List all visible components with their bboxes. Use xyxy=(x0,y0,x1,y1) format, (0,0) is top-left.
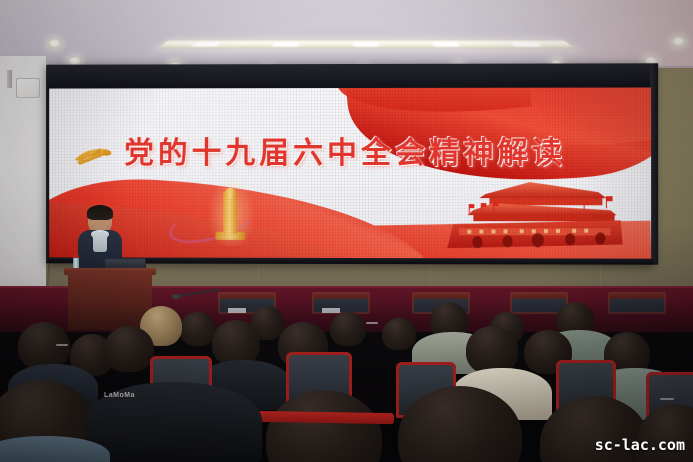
wall-pipe xyxy=(7,70,12,88)
audience-head xyxy=(104,326,154,372)
eyeglasses-icon xyxy=(56,344,68,346)
eyeglasses-icon xyxy=(660,398,674,400)
monument-cap xyxy=(224,188,236,198)
eyeglasses-icon xyxy=(366,322,378,324)
lecture-hall-photo: 党的十九届六中全会精神解读 xyxy=(0,0,693,462)
led-bezel-top xyxy=(46,63,654,90)
jacket-print-text: LaMoMa xyxy=(104,392,135,399)
downlight-icon xyxy=(672,37,685,46)
monument-to-the-peoples-heroes xyxy=(223,192,237,234)
led-screen-title: 党的十九届六中全会精神解读 xyxy=(124,134,566,174)
audience-head xyxy=(466,326,518,374)
presenter-shirt xyxy=(93,232,107,252)
site-watermark: sc-lac.com xyxy=(595,436,685,454)
led-display-screen: 党的十九届六中全会精神解读 xyxy=(46,63,654,264)
microphone-head xyxy=(172,294,180,299)
audience-head xyxy=(212,320,260,366)
audience-head xyxy=(382,318,416,350)
tiananmen-gate-graphic xyxy=(433,174,625,253)
audience-head xyxy=(18,322,70,370)
downlight-icon xyxy=(48,39,61,48)
audience-head xyxy=(330,312,366,346)
linear-ceiling-light xyxy=(158,41,574,49)
led-screen-content: 党的十九届六中全会精神解读 xyxy=(49,87,651,260)
led-bezel-side xyxy=(650,63,658,264)
wall-mounted-speaker-box xyxy=(16,78,40,98)
ccp-hammer-sickle-emblem xyxy=(71,140,116,170)
presenter-glasses xyxy=(90,218,110,222)
audience-head xyxy=(180,312,216,346)
